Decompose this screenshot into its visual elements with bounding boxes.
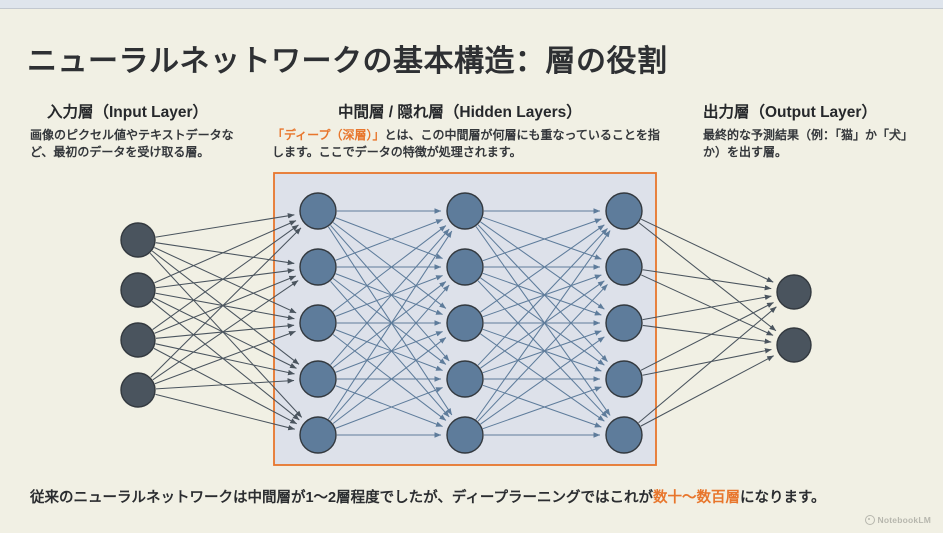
watermark-label: NotebookLM (878, 515, 931, 525)
network-node-hidden-layer-1-3 (300, 305, 336, 341)
network-node-hidden-layer-2-4 (447, 361, 483, 397)
notebooklm-logo-icon (865, 515, 875, 525)
network-node-hidden-layer-2-3 (447, 305, 483, 341)
network-node-output-layer-2 (777, 328, 811, 362)
network-node-hidden-layer-3-3 (606, 305, 642, 341)
network-edge (641, 356, 774, 426)
network-node-hidden-layer-3-4 (606, 361, 642, 397)
network-node-hidden-layer-2-1 (447, 193, 483, 229)
network-node-hidden-layer-1-1 (300, 193, 336, 229)
network-node-input-layer-3 (121, 323, 155, 357)
network-node-output-layer-1 (777, 275, 811, 309)
network-node-hidden-layer-3-5 (606, 417, 642, 453)
network-edge (641, 302, 774, 370)
network-edge (639, 223, 776, 331)
network-node-hidden-layer-2-5 (447, 417, 483, 453)
network-node-hidden-layer-1-5 (300, 417, 336, 453)
network-edge (643, 270, 771, 289)
network-node-hidden-layer-3-1 (606, 193, 642, 229)
slide-canvas: ニューラルネットワークの基本構造：層の役割 入力層（Input Layer） 画… (0, 0, 943, 533)
network-edge (643, 350, 772, 376)
network-node-input-layer-1 (121, 223, 155, 257)
neural-network-diagram (0, 0, 943, 533)
caption-part-1: 従来のニューラルネットワークは中間層が1〜2層程度でしたが、ディープラーニングで… (30, 490, 653, 506)
notebooklm-watermark: NotebookLM (865, 515, 931, 525)
caption-part-2: になります。 (740, 490, 826, 506)
network-node-input-layer-2 (121, 273, 155, 307)
network-edge (643, 296, 772, 319)
bottom-caption: 従来のニューラルネットワークは中間層が1〜2層程度でしたが、ディープラーニングで… (30, 486, 826, 507)
caption-highlight: 数十〜数百層 (653, 490, 740, 506)
network-node-input-layer-4 (121, 373, 155, 407)
network-node-hidden-layer-3-2 (606, 249, 642, 285)
network-node-hidden-layer-2-2 (447, 249, 483, 285)
network-node-hidden-layer-1-2 (300, 249, 336, 285)
network-node-hidden-layer-1-4 (300, 361, 336, 397)
